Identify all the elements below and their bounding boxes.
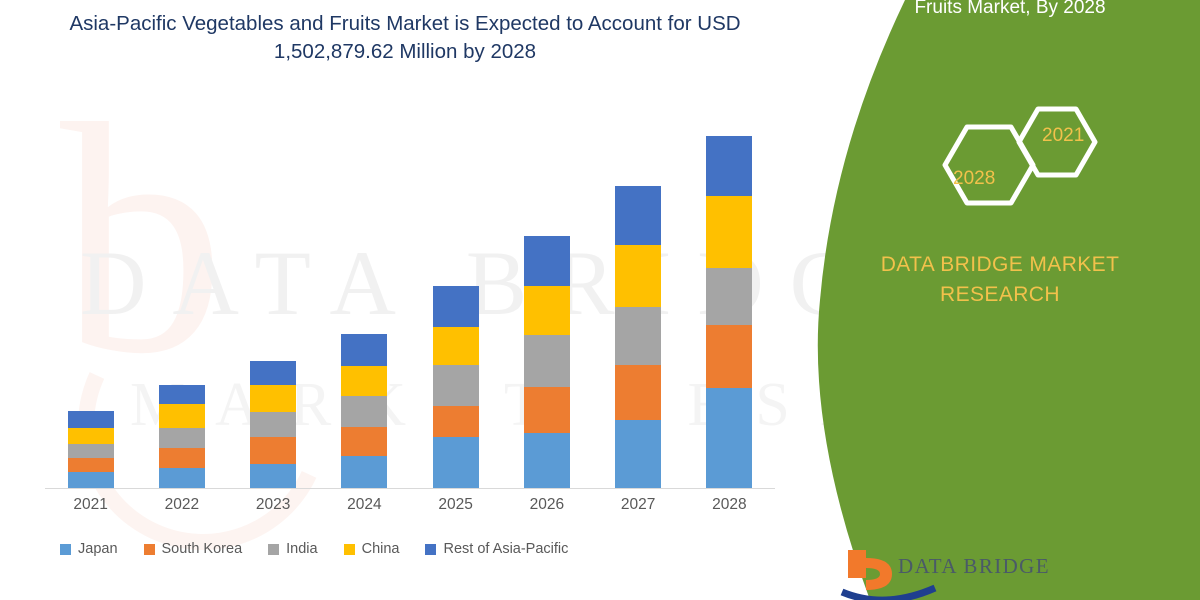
bar-segment <box>615 186 661 245</box>
bar-segment <box>68 411 114 428</box>
bar-segment <box>68 444 114 458</box>
bar-segment <box>615 420 661 488</box>
legend-item-south-korea[interactable]: South Korea <box>144 541 243 557</box>
bar-segment <box>524 236 570 286</box>
legend-item-china[interactable]: China <box>344 541 400 557</box>
bar-stack <box>159 385 205 488</box>
bar-stack <box>524 236 570 488</box>
green-panel: Fruits Market, By 2028 2028 2021 DATA BR… <box>795 0 1200 600</box>
bar-column-2025 <box>411 120 501 488</box>
bar-segment <box>341 396 387 427</box>
bar-stack <box>250 361 296 488</box>
x-axis-label-2026: 2026 <box>502 496 592 514</box>
infographic-root: b DATA BRIDGE MARKET RESEARCH Asia-Pacif… <box>0 0 1200 600</box>
bar-column-2027 <box>593 120 683 488</box>
bar-segment <box>433 327 479 365</box>
legend-label: Rest of Asia-Pacific <box>443 541 568 557</box>
legend-label: China <box>362 541 400 557</box>
legend-swatch-icon <box>268 544 279 555</box>
bar-segment <box>706 325 752 388</box>
bar-stack <box>68 411 114 488</box>
bar-segment <box>706 196 752 268</box>
bar-segment <box>524 335 570 387</box>
bar-segment <box>250 464 296 488</box>
legend-label: Japan <box>78 541 118 557</box>
legend-item-rest-of-asia-pacific[interactable]: Rest of Asia-Pacific <box>425 541 568 557</box>
bar-segment <box>68 428 114 444</box>
x-axis-label-2028: 2028 <box>684 496 774 514</box>
bar-segment <box>706 268 752 325</box>
bar-segment <box>615 307 661 365</box>
bar-segment <box>159 468 205 488</box>
legend-swatch-icon <box>144 544 155 555</box>
bar-column-2023 <box>228 120 318 488</box>
legend-swatch-icon <box>344 544 355 555</box>
x-axis-label-2025: 2025 <box>411 496 501 514</box>
x-axis-label-2024: 2024 <box>319 496 409 514</box>
bar-segment <box>159 428 205 448</box>
hexagon-2028-label: 2028 <box>953 168 995 190</box>
x-axis-label-2021: 2021 <box>46 496 136 514</box>
bar-segment <box>433 286 479 327</box>
bar-segment <box>524 433 570 488</box>
bar-segment <box>159 448 205 468</box>
bar-segment <box>615 365 661 420</box>
brand-line-2: RESEARCH <box>820 280 1180 310</box>
legend-swatch-icon <box>60 544 71 555</box>
bar-column-2024 <box>319 120 409 488</box>
x-axis-label-2023: 2023 <box>228 496 318 514</box>
bar-segment <box>159 385 205 404</box>
logo-text: DATA BRIDGE <box>898 554 1050 579</box>
bar-segment <box>341 427 387 456</box>
legend-swatch-icon <box>425 544 436 555</box>
green-panel-content: Fruits Market, By 2028 2028 2021 DATA BR… <box>795 0 1200 600</box>
axis-baseline <box>45 488 775 489</box>
bar-segment <box>68 472 114 488</box>
bar-segment <box>341 456 387 488</box>
bar-column-2022 <box>137 120 227 488</box>
hexagon-2021-label: 2021 <box>1042 125 1084 147</box>
bar-segment <box>433 365 479 406</box>
chart-panel: Asia-Pacific Vegetables and Fruits Marke… <box>0 0 830 600</box>
legend-label: South Korea <box>162 541 243 557</box>
bar-column-2028 <box>684 120 774 488</box>
bar-segment <box>524 286 570 335</box>
bar-column-2021 <box>46 120 136 488</box>
bar-segment <box>68 458 114 472</box>
bar-stack <box>615 186 661 488</box>
bar-stack <box>433 286 479 488</box>
bar-segment <box>341 366 387 396</box>
legend-item-japan[interactable]: Japan <box>60 541 118 557</box>
x-axis-label-2022: 2022 <box>137 496 227 514</box>
panel-title: Fruits Market, By 2028 <box>835 0 1185 22</box>
chart-title: Asia-Pacific Vegetables and Fruits Marke… <box>55 10 755 66</box>
bar-segment <box>524 387 570 433</box>
bar-segment <box>433 437 479 488</box>
x-axis-label-2027: 2027 <box>593 496 683 514</box>
bar-column-2026 <box>502 120 592 488</box>
bar-segment <box>159 404 205 428</box>
stacked-bar-chart <box>45 120 775 488</box>
bar-segment <box>250 361 296 385</box>
bar-segment <box>250 437 296 464</box>
bar-segment <box>341 334 387 366</box>
brand-line-1: DATA BRIDGE MARKET <box>820 250 1180 280</box>
brand-block: DATA BRIDGE MARKET RESEARCH <box>820 250 1180 310</box>
hexagon-outlines <box>915 100 1175 230</box>
legend-label: India <box>286 541 317 557</box>
bar-segment <box>615 245 661 307</box>
bar-segment <box>250 385 296 412</box>
bar-stack <box>341 334 387 488</box>
bar-segment <box>706 136 752 196</box>
legend-item-india[interactable]: India <box>268 541 317 557</box>
x-axis-labels: 20212022202320242025202620272028 <box>45 496 775 514</box>
data-bridge-logo: DATA BRIDGE <box>840 548 1180 600</box>
chart-legend: JapanSouth KoreaIndiaChinaRest of Asia-P… <box>60 541 780 557</box>
bar-stack <box>706 136 752 488</box>
hexagon-group: 2028 2021 <box>915 100 1175 230</box>
bar-segment <box>433 406 479 437</box>
bar-segment <box>250 412 296 437</box>
bar-segment <box>706 388 752 488</box>
